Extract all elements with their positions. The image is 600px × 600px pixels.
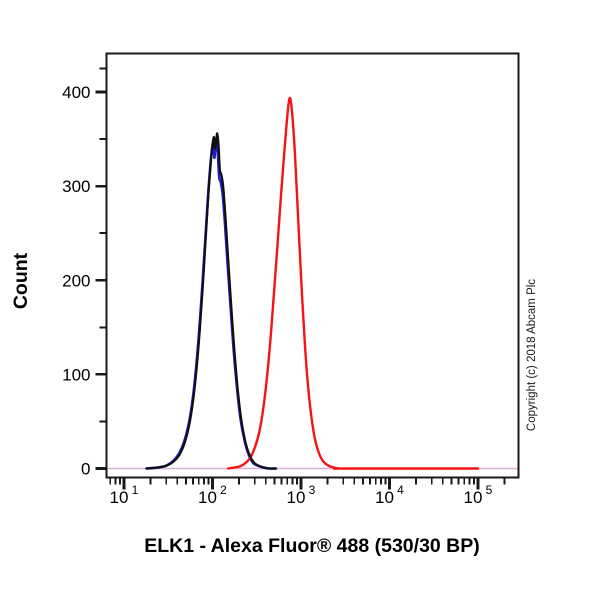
- x-tick-mantissa: 10: [198, 488, 217, 507]
- y-axis-tick-label: 0: [81, 460, 90, 479]
- x-tick-mantissa: 10: [287, 488, 306, 507]
- y-axis-title: Count: [10, 252, 32, 309]
- x-tick-mantissa: 10: [375, 488, 394, 507]
- x-tick-exponent: 3: [309, 483, 316, 497]
- x-tick-exponent: 4: [397, 483, 404, 497]
- y-axis-tick-label: 100: [62, 365, 90, 384]
- x-tick-exponent: 5: [486, 483, 493, 497]
- x-tick-mantissa: 10: [464, 488, 483, 507]
- x-tick-mantissa: 10: [110, 488, 129, 507]
- y-axis-tick-label: 200: [62, 271, 90, 290]
- histogram-plot: 0100200300400101102103104105 ELK1 - Alex…: [0, 0, 600, 600]
- y-axis-tick-label: 400: [62, 83, 90, 102]
- x-axis-title: ELK1 - Alexa Fluor® 488 (530/30 BP): [144, 535, 480, 557]
- x-tick-exponent: 1: [132, 483, 139, 497]
- flow-cytometry-figure: 0100200300400101102103104105 ELK1 - Alex…: [0, 0, 600, 600]
- copyright-notice: Copyright (c) 2018 Abcam Plc: [526, 279, 538, 431]
- x-tick-exponent: 2: [220, 483, 227, 497]
- y-axis-tick-label: 300: [62, 177, 90, 196]
